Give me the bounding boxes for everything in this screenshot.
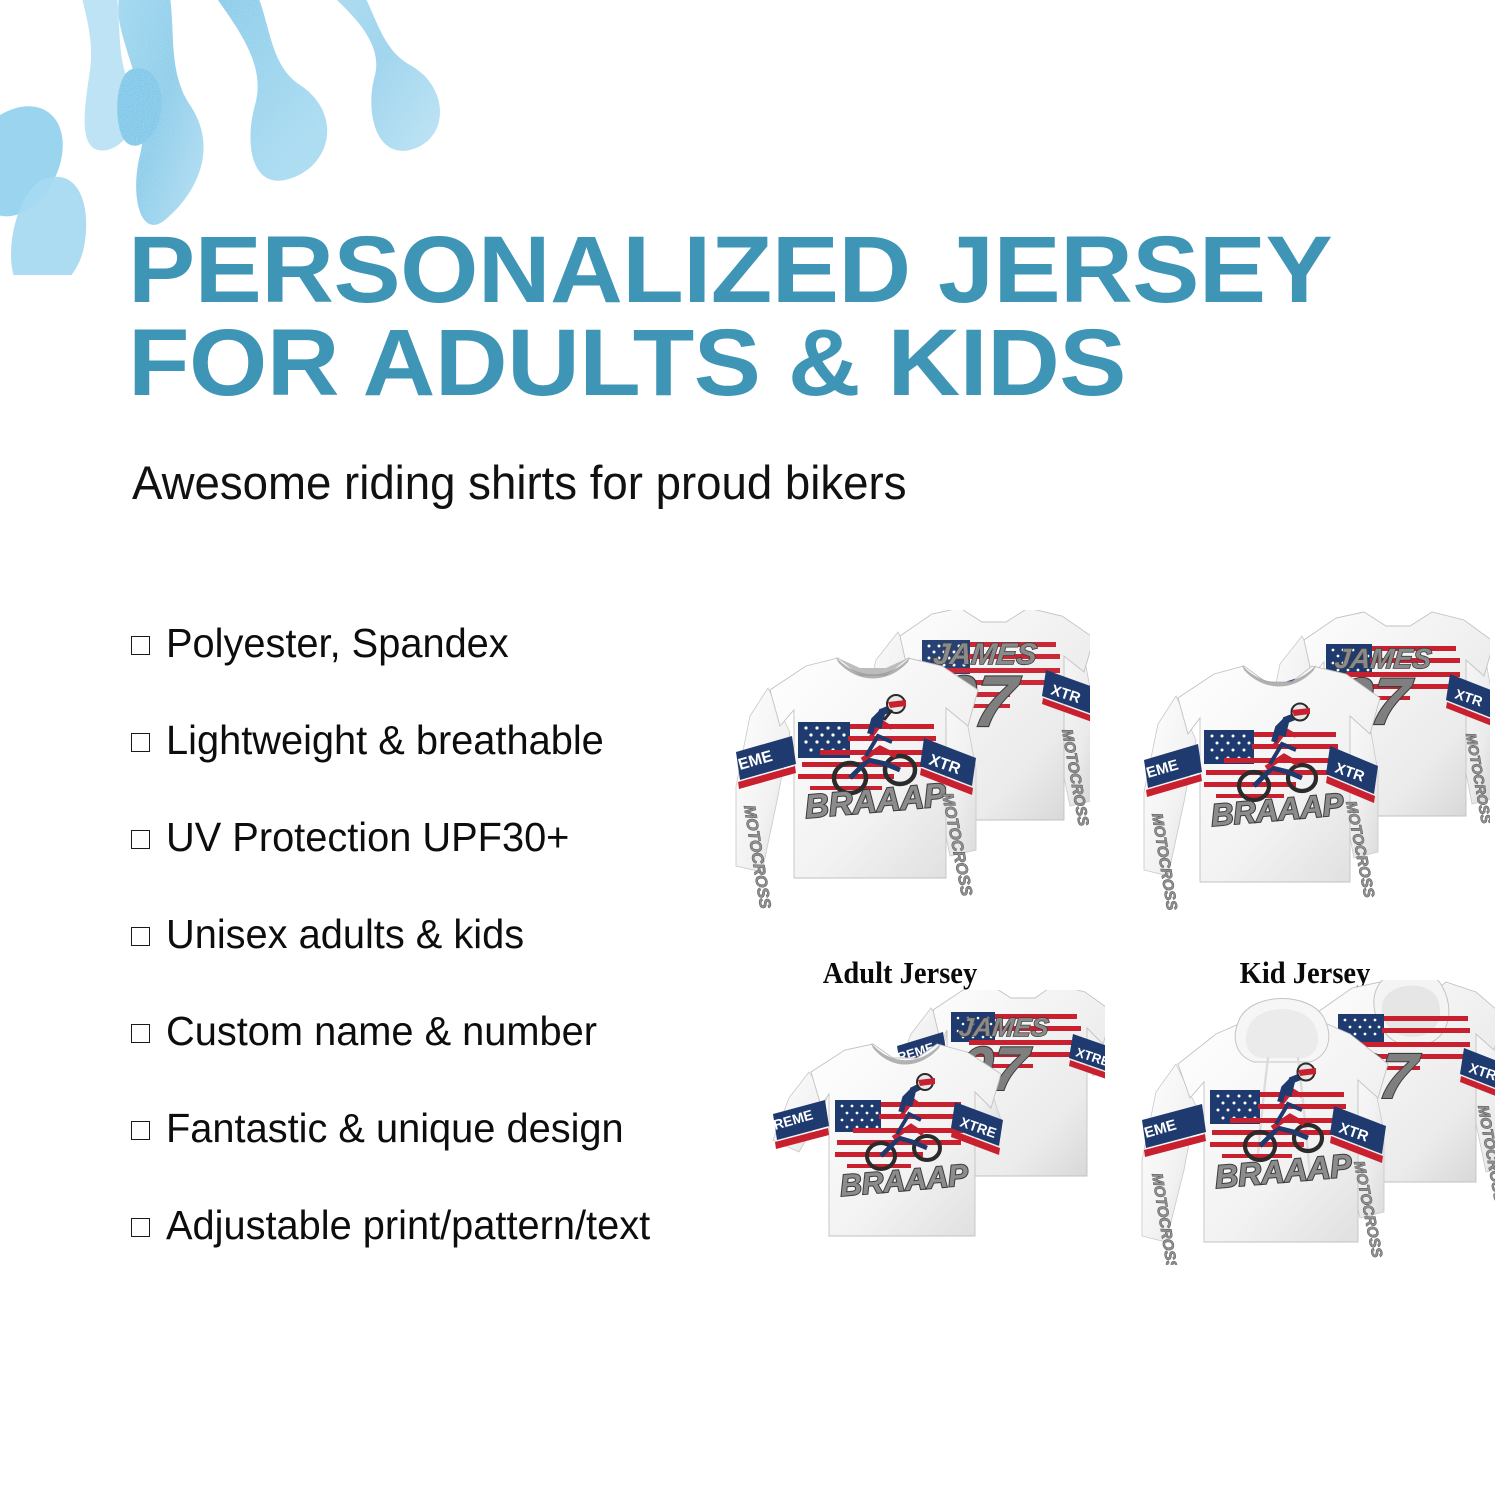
feature-label: Lightweight & breathable bbox=[166, 717, 604, 764]
feature-item: Lightweight & breathable bbox=[131, 717, 791, 814]
checkbox-square-icon bbox=[131, 733, 150, 752]
product-image-adult-jersey: JAMES 07 EME XTR MOTOCROSS bbox=[710, 610, 1090, 940]
product-image-kid-jersey: JAMES 07 EME XTR MOTOCROSS bbox=[1120, 610, 1490, 940]
product-gallery: JAMES 07 EME XTR MOTOCROSS bbox=[700, 600, 1500, 1320]
feature-label: UV Protection UPF30+ bbox=[166, 814, 569, 861]
feature-item: Unisex adults & kids bbox=[131, 911, 791, 1008]
product-card-adult-hooded-jersey[interactable]: 07 XTR MOTOCROSS bbox=[1120, 980, 1495, 1265]
hooded-front-view: BRAAAP EME XTR MOTOCROSS MOTOCROSS bbox=[1142, 999, 1388, 1266]
product-card-adult-jersey[interactable]: JAMES 07 EME XTR MOTOCROSS bbox=[710, 610, 1090, 940]
feature-item: Adjustable print/pattern/text bbox=[131, 1202, 791, 1299]
checkbox-square-icon bbox=[131, 636, 150, 655]
feature-item: UV Protection UPF30+ bbox=[131, 814, 791, 911]
feature-label: Fantastic & unique design bbox=[166, 1105, 624, 1152]
feature-label: Custom name & number bbox=[166, 1008, 597, 1055]
feature-item: Polyester, Spandex bbox=[131, 620, 791, 717]
feature-label: Unisex adults & kids bbox=[166, 911, 524, 958]
sleeve-vertical-text: MOTOCROSS bbox=[1474, 1104, 1495, 1204]
checkbox-square-icon bbox=[131, 1121, 150, 1140]
product-image-adult-tshirt: JAMES 07 REME XTRE bbox=[755, 990, 1105, 1265]
product-card-adult-tshirt[interactable]: JAMES 07 REME XTRE bbox=[755, 990, 1105, 1265]
checkbox-square-icon bbox=[131, 1024, 150, 1043]
jersey-front-view: BRAAAP EME XTR MOTOCROSS MOTOCROSS bbox=[736, 657, 978, 910]
checkbox-square-icon bbox=[131, 1218, 150, 1237]
product-image-adult-hooded-jersey: 07 XTR MOTOCROSS bbox=[1120, 980, 1495, 1265]
feature-item: Custom name & number bbox=[131, 1008, 791, 1105]
feature-label: Polyester, Spandex bbox=[166, 620, 509, 667]
page-subtitle: Awesome riding shirts for proud bikers bbox=[132, 455, 907, 510]
page-title-line-1: PERSONALIZED JERSEY bbox=[128, 224, 1464, 317]
checkbox-square-icon bbox=[131, 927, 150, 946]
product-card-kid-jersey[interactable]: JAMES 07 EME XTR MOTOCROSS bbox=[1120, 610, 1490, 940]
feature-label: Adjustable print/pattern/text bbox=[166, 1202, 650, 1249]
tshirt-front-view: BRAAAP REME XTRE bbox=[771, 1043, 1003, 1236]
product-caption: Adult Jersey bbox=[725, 955, 1075, 991]
infographic-canvas: PERSONALIZED JERSEY FOR ADULTS & KIDS Aw… bbox=[0, 0, 1500, 1500]
page-title: PERSONALIZED JERSEY FOR ADULTS & KIDS bbox=[128, 224, 1464, 410]
feature-list: Polyester, Spandex Lightweight & breatha… bbox=[131, 620, 791, 1299]
feature-item: Fantastic & unique design bbox=[131, 1105, 791, 1202]
page-title-line-2: FOR ADULTS & KIDS bbox=[128, 317, 1464, 410]
checkbox-square-icon bbox=[131, 830, 150, 849]
jersey-front-view: BRAAAP EME XTR MOTOCROSS MOTOCROSS bbox=[1144, 665, 1380, 911]
